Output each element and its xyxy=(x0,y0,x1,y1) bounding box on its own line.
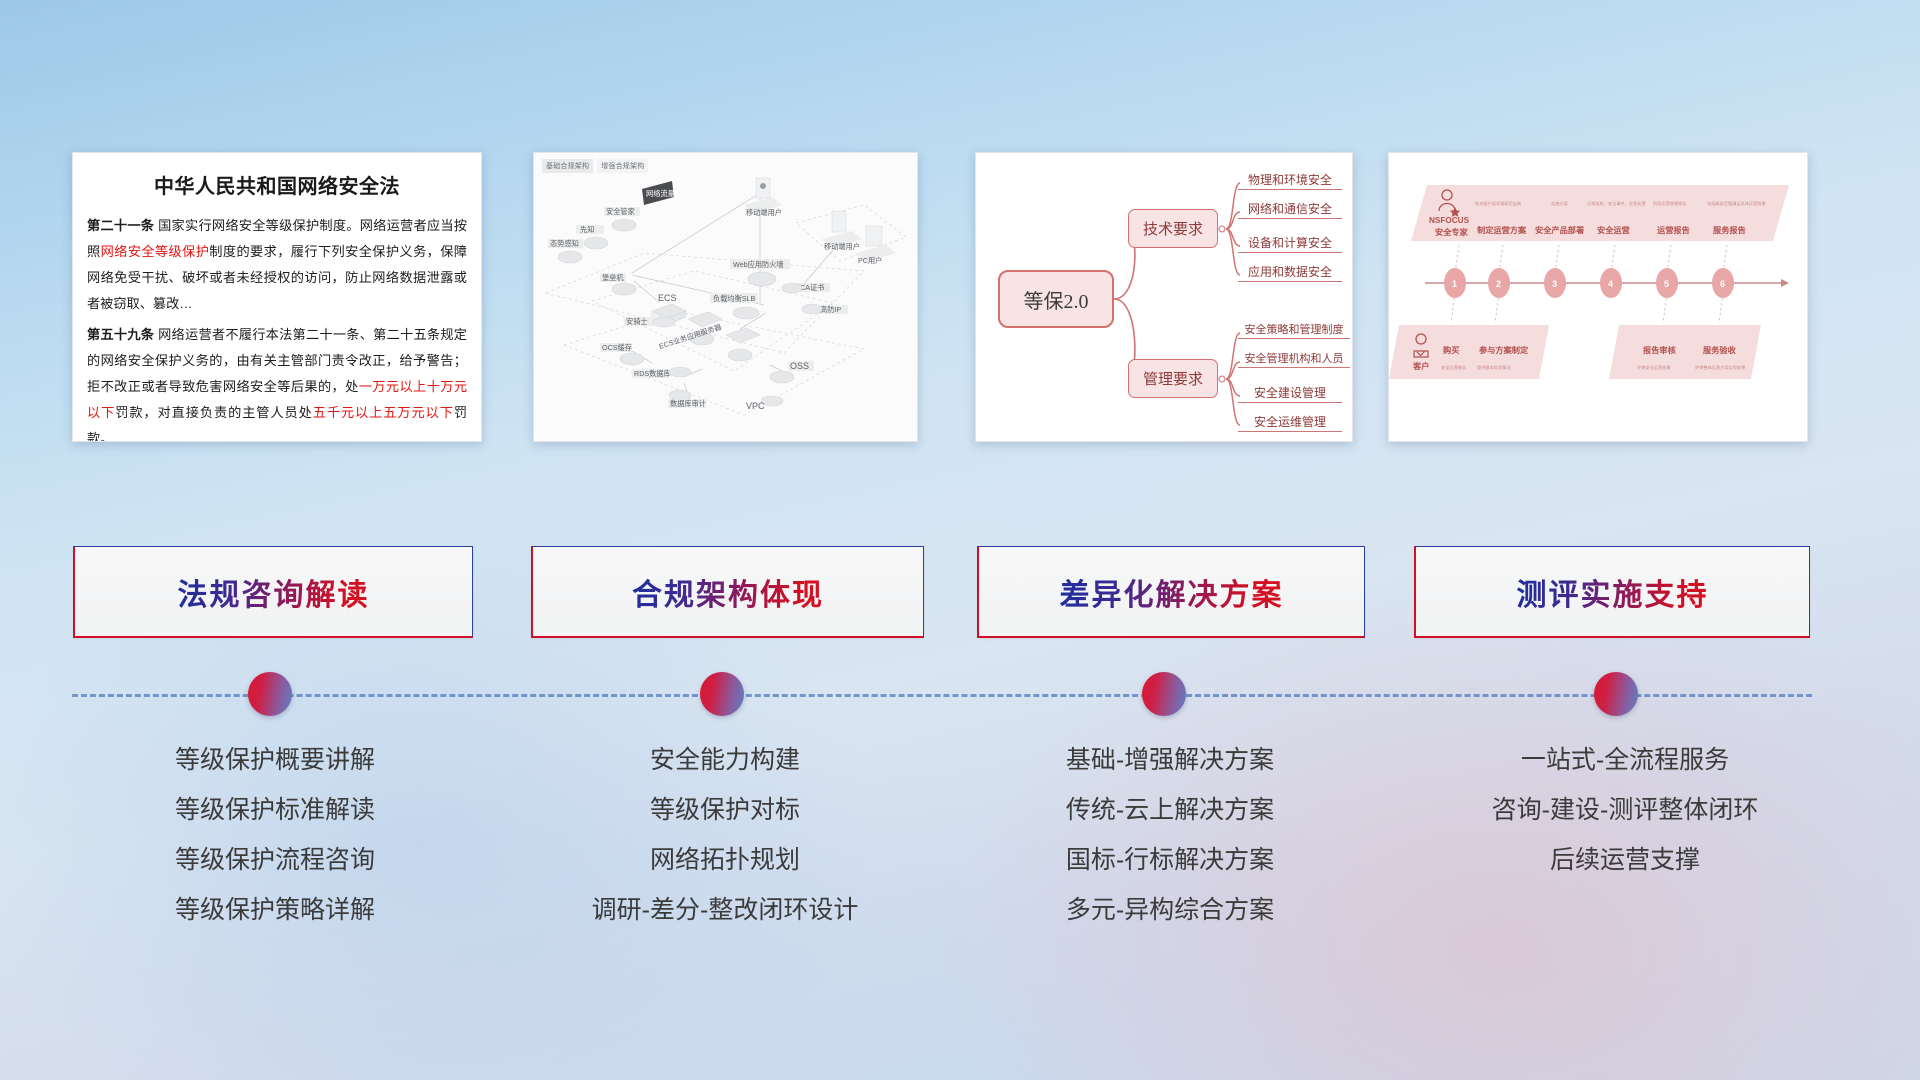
bottom-step-title: 购买 xyxy=(1442,345,1459,355)
node-label-anquanguanjia: 安全管家 xyxy=(606,207,635,216)
top-step-title: 安全运营 xyxy=(1597,225,1630,235)
mindmap-leaf: 设备和计算安全 xyxy=(1238,234,1342,253)
top-step-sub: 实施方案 xyxy=(1551,200,1569,207)
architecture-svg: 网络流量 安全管家 先知 态势感知 堡垒机 移动端用户 xyxy=(534,153,918,442)
list-item: 多元-异构综合方案 xyxy=(955,885,1385,935)
section-title-box-4[interactable]: 测评实施支持 xyxy=(1414,546,1810,638)
node-label-waf: Web应用防火墙 xyxy=(733,260,784,269)
bottom-step-sub: 评审安全运营效果 xyxy=(1637,364,1671,371)
bottom-step-title: 服务验收 xyxy=(1703,345,1737,355)
nsfocus-flow-svg: 1 2 3 4 5 6 NSFOCUS 安全专家 制定运营方案 安全产品部署 安… xyxy=(1389,153,1808,442)
node-label-baoleiji: 堡垒机 xyxy=(602,273,624,282)
top-step-title: 制定运营方案 xyxy=(1477,225,1527,235)
top-step-sub: 日常巡检、安全事件、应急处置 xyxy=(1587,200,1646,207)
node-label-oss: OSS xyxy=(790,361,809,371)
step-number: 3 xyxy=(1552,279,1557,289)
card-cybersecurity-law[interactable]: 中华人民共和国网络安全法 第二十一条 国家实行网络安全等级保护制度。网络运营者应… xyxy=(72,152,482,442)
list-item: 一站式-全流程服务 xyxy=(1390,735,1860,785)
list-item: 后续运营支撑 xyxy=(1390,835,1860,885)
law-title: 中华人民共和国网络安全法 xyxy=(73,170,481,199)
section-items-column-4: 一站式-全流程服务 咨询-建设-测评整体闭环 后续运营支撑 xyxy=(1390,735,1860,885)
section-title-label: 合规架构体现 xyxy=(632,570,824,614)
list-item: 网络拓扑规划 xyxy=(510,835,940,885)
card-mindmap-dengbao[interactable]: 等保2.0 技术要求 管理要求 物理和环境安全 网络和通信安全 设备和计算安全 … xyxy=(975,152,1353,442)
list-item: 等级保护流程咨询 xyxy=(60,835,490,885)
law-article-59-label: 第五十九条 xyxy=(87,327,154,342)
list-item: 传统-云上解决方案 xyxy=(955,785,1385,835)
node-label-pc-users: PC用户 xyxy=(858,256,882,265)
law-article-59-mid: 罚款，对直接负责的主管人员处 xyxy=(115,405,313,420)
law-fine-range-2: 五千元以上五万元以下 xyxy=(313,405,454,420)
section-items-row: 等级保护概要讲解 等级保护标准解读 等级保护流程咨询 等级保护策略详解 安全能力… xyxy=(0,735,1920,1015)
bottom-step-title: 参与方案制定 xyxy=(1479,345,1529,355)
step-number: 6 xyxy=(1720,279,1725,289)
nsfocus-flow: 1 2 3 4 5 6 NSFOCUS 安全专家 制定运营方案 安全产品部署 安… xyxy=(1389,153,1807,441)
node-label-ca: CA证书 xyxy=(800,283,824,292)
list-item: 等级保护对标 xyxy=(510,785,940,835)
mindmap-leaf: 应用和数据安全 xyxy=(1238,263,1342,282)
section-items-column-3: 基础-增强解决方案 传统-云上解决方案 国标-行标解决方案 多元-异构综合方案 xyxy=(955,735,1385,935)
node-label-db-audit: 数据库审计 xyxy=(670,399,706,408)
timeline-dot-2[interactable] xyxy=(700,672,744,716)
node-label-ddos: 网络流量 xyxy=(646,189,675,198)
node-label-mobile-users: 移动端用户 xyxy=(746,208,782,217)
bottom-step-sub: 安全运营服务 xyxy=(1441,364,1467,371)
architecture-diagram: 基础合规架构 增强合规架构 xyxy=(534,153,917,441)
list-item: 咨询-建设-测评整体闭环 xyxy=(1390,785,1860,835)
card-nsfocus-service-flow[interactable]: 1 2 3 4 5 6 NSFOCUS 安全专家 制定运营方案 安全产品部署 安… xyxy=(1388,152,1808,442)
timeline-dashed-line xyxy=(72,694,1812,697)
list-item: 等级保护概要讲解 xyxy=(60,735,490,785)
law-article-59: 第五十九条 网络运营者不履行本法第二十一条、第二十五条规定的网络安全保护义务的，… xyxy=(87,322,467,442)
section-title-box-2[interactable]: 合规架构体现 xyxy=(531,546,924,638)
mindmap-branch-technical[interactable]: 技术要求 xyxy=(1128,209,1218,248)
list-item: 调研-差分-整改闭环设计 xyxy=(510,885,940,935)
section-items-column-2: 安全能力构建 等级保护对标 网络拓扑规划 调研-差分-整改闭环设计 xyxy=(510,735,940,935)
mindmap-leaf: 网络和通信安全 xyxy=(1238,200,1342,219)
timeline xyxy=(0,660,1920,740)
top-step-title: 运营报告 xyxy=(1657,225,1690,235)
node-label-slb: 负载均衡SLB xyxy=(713,294,756,303)
customer-label: 客户 xyxy=(1412,361,1429,371)
step-number: 5 xyxy=(1664,279,1669,289)
card-cloud-architecture[interactable]: 基础合规架构 增强合规架构 xyxy=(533,152,918,442)
bottom-step-sub: 评审整体运营方案实现效果 xyxy=(1695,364,1746,371)
list-item: 安全能力构建 xyxy=(510,735,940,785)
timeline-dot-4[interactable] xyxy=(1594,672,1638,716)
node-label-rds: RDS数据库 xyxy=(634,369,671,378)
timeline-dot-3[interactable] xyxy=(1142,672,1186,716)
top-step-title: 服务报告 xyxy=(1713,225,1746,235)
law-article-21-label: 第二十一条 xyxy=(87,218,154,233)
expert-name: NSFOCUS xyxy=(1429,216,1470,225)
mindmap: 等保2.0 技术要求 管理要求 物理和环境安全 网络和通信安全 设备和计算安全 … xyxy=(976,153,1352,441)
mindmap-leaf: 安全运维管理 xyxy=(1238,413,1342,432)
node-label-xianzhi: 先知 xyxy=(580,225,594,234)
bottom-step-sub: 提供基本现状情况 xyxy=(1477,364,1511,371)
node-label-ocs: OCS缓存 xyxy=(602,343,632,352)
node-label-anqishi: 安骑士 xyxy=(626,317,648,326)
node-label-vpc: VPC xyxy=(746,401,765,411)
section-title-label: 差异化解决方案 xyxy=(1060,570,1284,614)
section-title-box-1[interactable]: 法规咨询解读 xyxy=(73,546,473,638)
step-number: 1 xyxy=(1452,279,1457,289)
expert-role: 安全专家 xyxy=(1435,227,1469,237)
mindmap-leaf: 安全管理机构和人员 xyxy=(1238,350,1350,368)
mindmap-leaf: 安全策略和管理制度 xyxy=(1238,321,1350,339)
law-article-21: 第二十一条 国家实行网络安全等级保护制度。网络运营者应当按照网络安全等级保护制度… xyxy=(87,213,467,317)
list-item: 国标-行标解决方案 xyxy=(955,835,1385,885)
node-label-ecs: ECS xyxy=(658,293,677,303)
section-titles-row: 法规咨询解读 合规架构体现 差异化解决方案 测评实施支持 xyxy=(0,546,1920,646)
node-label-taishiganzhi: 态势感知 xyxy=(550,239,579,248)
section-title-box-3[interactable]: 差异化解决方案 xyxy=(977,546,1365,638)
preview-cards-row: 中华人民共和国网络安全法 第二十一条 国家实行网络安全等级保护制度。网络运营者应… xyxy=(0,0,1920,460)
law-article-21-highlight: 网络安全等级保护 xyxy=(101,244,210,259)
list-item: 等级保护策略详解 xyxy=(60,885,490,935)
node-label-gaofangip: 高防IP xyxy=(820,305,841,314)
step-number: 2 xyxy=(1496,279,1501,289)
section-title-label: 测评实施支持 xyxy=(1517,570,1709,614)
section-title-label: 法规咨询解读 xyxy=(178,570,370,614)
list-item: 基础-增强解决方案 xyxy=(955,735,1385,785)
node-label-mobile-users-2: 移动端用户 xyxy=(824,242,860,251)
step-number: 4 xyxy=(1608,279,1613,289)
section-items-column-1: 等级保护概要讲解 等级保护标准解读 等级保护流程咨询 等级保护策略详解 xyxy=(60,735,490,935)
top-step-sub: 结合客户现状调研后出具 xyxy=(1475,200,1522,207)
top-step-title: 安全产品部署 xyxy=(1535,225,1584,235)
mindmap-leaf: 安全建设管理 xyxy=(1238,384,1342,403)
law-body: 第二十一条 国家实行网络安全等级保护制度。网络运营者应当按照网络安全等级保护制度… xyxy=(73,213,481,442)
bottom-step-title: 报告审核 xyxy=(1643,345,1677,355)
mindmap-branch-management[interactable]: 管理要求 xyxy=(1128,359,1218,398)
list-item: 等级保护标准解读 xyxy=(60,785,490,835)
top-step-sub: 包括服务范围满足总体运营效果 xyxy=(1707,200,1766,207)
timeline-dot-1[interactable] xyxy=(248,672,292,716)
mindmap-leaf: 物理和环境安全 xyxy=(1238,171,1342,190)
mindmap-core-node[interactable]: 等保2.0 xyxy=(998,270,1114,328)
top-step-sub: 阶段运营效果报告 xyxy=(1653,200,1687,207)
